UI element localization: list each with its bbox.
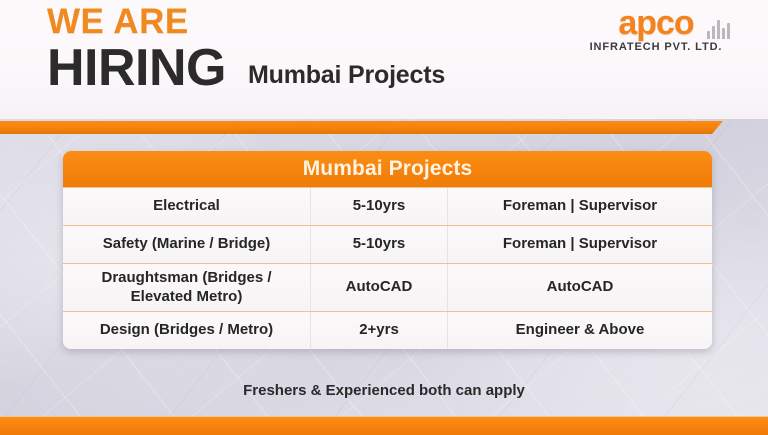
orange-divider-band <box>0 121 723 134</box>
projects-table: Mumbai Projects Electrical 5-10yrs Forem… <box>63 151 712 349</box>
headline-subtitle: Mumbai Projects <box>248 63 445 94</box>
logo-tagline: INFRATECH PVT. LTD. <box>580 41 732 53</box>
hiring-poster: WE ARE HIRING Mumbai Projects apco INFRA… <box>0 0 768 435</box>
headline-row: HIRING Mumbai Projects <box>47 42 607 94</box>
cell-role: Draughtsman (Bridges / Elevated Metro) <box>63 264 311 311</box>
headline-block: WE ARE HIRING Mumbai Projects <box>47 4 607 94</box>
headline-we-are: WE ARE <box>47 4 607 41</box>
logo-wordmark: apco <box>618 6 693 40</box>
headline-hiring: HIRING <box>47 42 226 94</box>
logo-mark: apco <box>580 6 732 40</box>
footer-note: Freshers & Experienced both can apply <box>0 382 768 399</box>
cell-role: Design (Bridges / Metro) <box>63 312 311 349</box>
cell-experience: 5-10yrs <box>311 226 448 263</box>
bottom-orange-bar <box>0 416 768 435</box>
cell-experience: AutoCAD <box>311 264 448 311</box>
cell-position: Foreman | Supervisor <box>448 188 712 225</box>
table-row: Design (Bridges / Metro) 2+yrs Engineer … <box>63 311 712 349</box>
cell-experience: 5-10yrs <box>311 188 448 225</box>
cell-position: AutoCAD <box>448 264 712 311</box>
cell-position: Engineer & Above <box>448 312 712 349</box>
table-header: Mumbai Projects <box>63 151 712 187</box>
cell-role: Safety (Marine / Bridge) <box>63 226 311 263</box>
table-row: Electrical 5-10yrs Foreman | Supervisor <box>63 187 712 225</box>
cell-position: Foreman | Supervisor <box>448 226 712 263</box>
company-logo: apco INFRATECH PVT. LTD. <box>580 6 732 53</box>
table-row: Safety (Marine / Bridge) 5-10yrs Foreman… <box>63 225 712 263</box>
buildings-icon <box>707 20 730 39</box>
cell-role: Electrical <box>63 188 311 225</box>
table-row: Draughtsman (Bridges / Elevated Metro) A… <box>63 263 712 311</box>
table-title: Mumbai Projects <box>303 157 473 181</box>
cell-experience: 2+yrs <box>311 312 448 349</box>
